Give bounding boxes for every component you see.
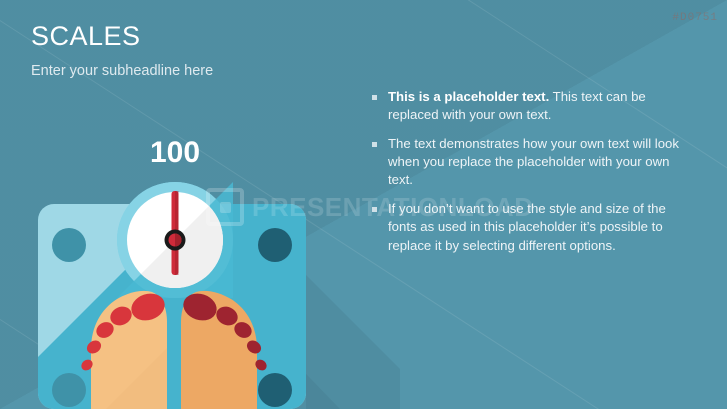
slide-code-label: #D0751	[672, 12, 718, 24]
bullet-text: This is a placeholder text. This text ca…	[388, 88, 688, 124]
bullet-lead: This is a placeholder text.	[388, 89, 549, 104]
list-item: If you don’t want to use the style and s…	[372, 200, 688, 254]
slide-header: SCALES Enter your subheadline here	[31, 22, 213, 79]
bullet-square-icon	[372, 142, 377, 147]
bullet-text: The text demonstrates how your own text …	[388, 135, 688, 189]
bullet-square-icon	[372, 95, 377, 100]
slide-canvas: 100 PRESENTATIONLOAD SCALES Enter your s…	[0, 0, 727, 409]
page-title: SCALES	[31, 22, 213, 52]
bullet-square-icon	[372, 207, 377, 212]
bullet-list: This is a placeholder text. This text ca…	[372, 88, 688, 266]
list-item: The text demonstrates how your own text …	[372, 135, 688, 189]
bullet-text: If you don’t want to use the style and s…	[388, 200, 688, 254]
scale-illustration: 100	[0, 125, 400, 409]
page-subtitle: Enter your subheadline here	[31, 63, 213, 79]
scale-reading-value: 100	[150, 136, 200, 169]
list-item: This is a placeholder text. This text ca…	[372, 88, 688, 124]
